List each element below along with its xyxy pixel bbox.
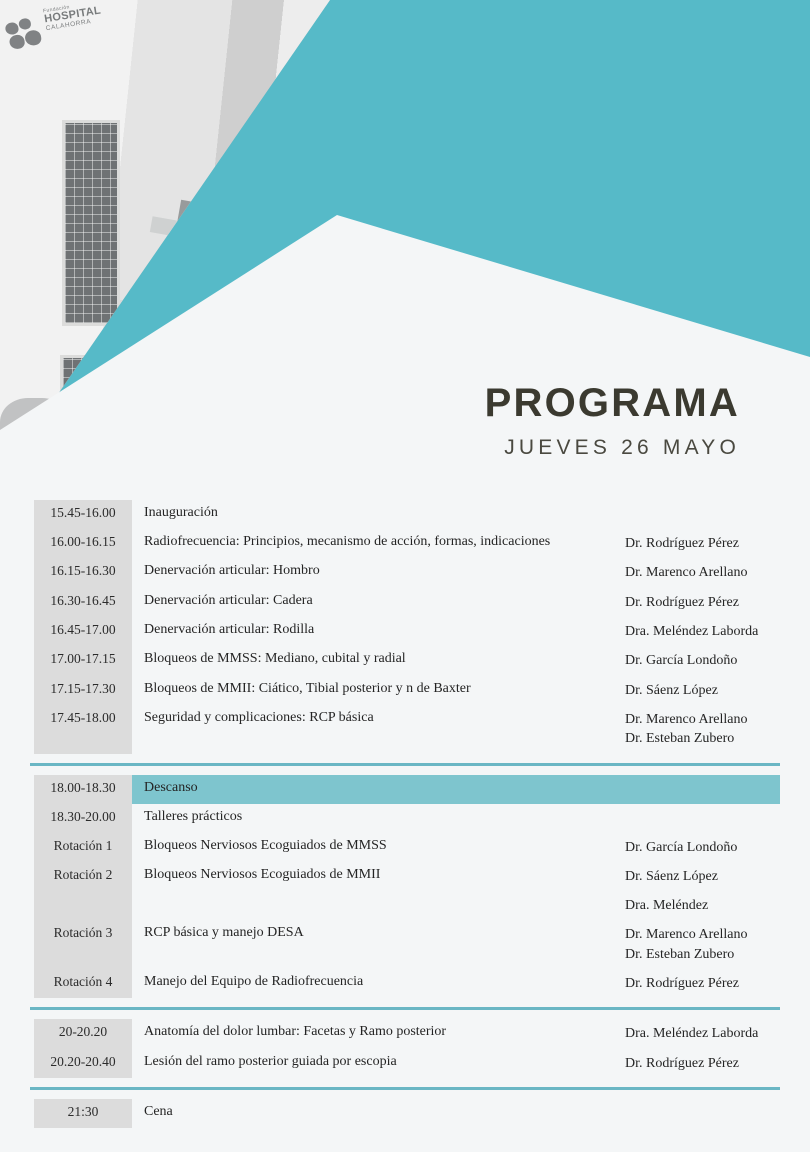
speaker-name: Dra. Meléndez Laborda [625, 1024, 810, 1043]
row-title: Denervación articular: Cadera [132, 588, 625, 614]
row-time: Rotación 3 [0, 920, 132, 946]
row-title: Cena [132, 1099, 625, 1125]
row-speakers: Dra. Meléndez Laborda [625, 617, 810, 646]
table-row: 16.30-16.45Denervación articular: Cadera… [0, 588, 810, 617]
schedule-block: 20-20.20Anatomía del dolor lumbar: Facet… [0, 1019, 810, 1078]
row-title: Radiofrecuencia: Principios, mecanismo d… [132, 529, 625, 555]
row-title: Bloqueos de MMII: Ciático, Tibial poster… [132, 676, 625, 702]
table-row: 16.15-16.30Denervación articular: Hombro… [0, 558, 810, 587]
speaker-name: Dr. Rodríguez Pérez [625, 593, 810, 612]
speaker-name: Dr. García Londoño [625, 838, 810, 857]
row-title: Talleres prácticos [132, 804, 625, 830]
schedule-block: 18.00-18.30Descanso18.30-20.00Talleres p… [0, 775, 810, 999]
section-divider [30, 1087, 780, 1090]
row-time: 20.20-20.40 [0, 1049, 132, 1075]
row-title: Bloqueos Nerviosos Ecoguiados de MMSS [132, 833, 625, 859]
row-speakers: Dra. Meléndez Laborda [625, 1019, 810, 1048]
row-time: Rotación 1 [0, 833, 132, 859]
row-title: Descanso [132, 775, 625, 801]
row-time: 15.45-16.00 [0, 500, 132, 526]
speaker-name: Dr. Rodríguez Pérez [625, 974, 810, 993]
row-title: Seguridad y complicaciones: RCP básica [132, 705, 625, 731]
speaker-name: Dr. Sáenz López [625, 867, 810, 886]
schedule-block: 15.45-16.00Inauguración16.00-16.15Radiof… [0, 500, 810, 754]
row-title: Denervación articular: Hombro [132, 558, 625, 584]
row-time: 18.30-20.00 [0, 804, 132, 830]
speaker-name: Dra. Meléndez [625, 896, 810, 915]
row-speakers: Dr. Marenco ArellanoDr. Esteban Zubero [625, 920, 810, 969]
speaker-name: Dr. Marenco Arellano [625, 925, 810, 944]
table-row: 20-20.20Anatomía del dolor lumbar: Facet… [0, 1019, 810, 1048]
row-speakers [625, 500, 810, 510]
row-title [132, 891, 625, 901]
row-title: Bloqueos de MMSS: Mediano, cubital y rad… [132, 646, 625, 672]
row-speakers: Dr. Sáenz López [625, 862, 810, 891]
speaker-name: Dr. Sáenz López [625, 681, 810, 700]
speaker-name: Dr. Rodríguez Pérez [625, 1054, 810, 1073]
speaker-name: Dr. García Londoño [625, 651, 810, 670]
speaker-name: Dr. Marenco Arellano [625, 710, 810, 729]
row-time: 20-20.20 [0, 1019, 132, 1045]
row-speakers: Dr. García Londoño [625, 646, 810, 675]
row-time: Rotación 2 [0, 862, 132, 888]
speaker-name: Dr. Esteban Zubero [625, 729, 810, 748]
section-divider [30, 1007, 780, 1010]
table-row: 21:30Cena [0, 1099, 810, 1128]
table-row: 20.20-20.40Lesión del ramo posterior gui… [0, 1049, 810, 1078]
table-row: 17.00-17.15Bloqueos de MMSS: Mediano, cu… [0, 646, 810, 675]
table-row: 16.45-17.00Denervación articular: Rodill… [0, 617, 810, 646]
table-row: 18.00-18.30Descanso [0, 775, 810, 804]
title-block: PROGRAMA JUEVES 26 MAYO [180, 383, 740, 458]
row-title: Lesión del ramo posterior guiada por esc… [132, 1049, 625, 1075]
logo-dots-icon [4, 16, 47, 58]
row-time: Rotación 4 [0, 969, 132, 995]
table-row: 17.15-17.30Bloqueos de MMII: Ciático, Ti… [0, 676, 810, 705]
row-speakers: Dr. Marenco ArellanoDr. Esteban Zubero [625, 705, 810, 754]
row-speakers: Dr. García Londoño [625, 833, 810, 862]
speaker-name: Dr. Rodríguez Pérez [625, 534, 810, 553]
row-speakers: Dr. Rodríguez Pérez [625, 588, 810, 617]
speaker-name: Dra. Meléndez Laborda [625, 622, 810, 641]
schedule-table: 15.45-16.00Inauguración16.00-16.15Radiof… [0, 500, 810, 1128]
row-time: 16.15-16.30 [0, 558, 132, 584]
table-row: Rotación 2Bloqueos Nerviosos Ecoguiados … [0, 862, 810, 891]
row-speakers: Dra. Meléndez [625, 891, 810, 920]
logo-text: Fundación HOSPITAL CALAHORRA [43, 1, 103, 33]
row-speakers: Dr. Rodríguez Pérez [625, 529, 810, 558]
page-subtitle: JUEVES 26 MAYO [180, 437, 740, 458]
row-time: 21:30 [0, 1099, 132, 1125]
page-title: PROGRAMA [180, 383, 740, 423]
row-speakers [625, 775, 810, 785]
row-time: 16.45-17.00 [0, 617, 132, 643]
row-title: RCP básica y manejo DESA [132, 920, 625, 946]
row-title: Inauguración [132, 500, 625, 526]
schedule-block: 21:30Cena [0, 1099, 810, 1128]
poster-page: Fundación HOSPITAL CALAHORRA PROGRAMA JU… [0, 0, 810, 1152]
table-row: 15.45-16.00Inauguración [0, 500, 810, 529]
row-time: 17.00-17.15 [0, 646, 132, 672]
speaker-name: Dr. Marenco Arellano [625, 563, 810, 582]
row-speakers [625, 804, 810, 814]
row-speakers: Dr. Marenco Arellano [625, 558, 810, 587]
row-time [0, 891, 132, 901]
row-time: 17.15-17.30 [0, 676, 132, 702]
table-row: 18.30-20.00Talleres prácticos [0, 804, 810, 833]
table-row: 16.00-16.15Radiofrecuencia: Principios, … [0, 529, 810, 558]
window-panel-left [62, 120, 120, 326]
row-time: 16.00-16.15 [0, 529, 132, 555]
row-title: Anatomía del dolor lumbar: Facetas y Ram… [132, 1019, 625, 1045]
row-speakers [625, 1099, 810, 1109]
row-time: 18.00-18.30 [0, 775, 132, 801]
row-title: Bloqueos Nerviosos Ecoguiados de MMII [132, 862, 625, 888]
table-row: Rotación 1Bloqueos Nerviosos Ecoguiados … [0, 833, 810, 862]
table-row: Rotación 4Manejo del Equipo de Radiofrec… [0, 969, 810, 998]
row-title: Denervación articular: Rodilla [132, 617, 625, 643]
row-speakers: Dr. Rodríguez Pérez [625, 1049, 810, 1078]
section-divider [30, 763, 780, 766]
row-speakers: Dr. Sáenz López [625, 676, 810, 705]
row-time: 17.45-18.00 [0, 705, 132, 731]
row-time: 16.30-16.45 [0, 588, 132, 614]
row-title: Manejo del Equipo de Radiofrecuencia [132, 969, 625, 995]
speaker-name: Dr. Esteban Zubero [625, 945, 810, 964]
row-speakers: Dr. Rodríguez Pérez [625, 969, 810, 998]
